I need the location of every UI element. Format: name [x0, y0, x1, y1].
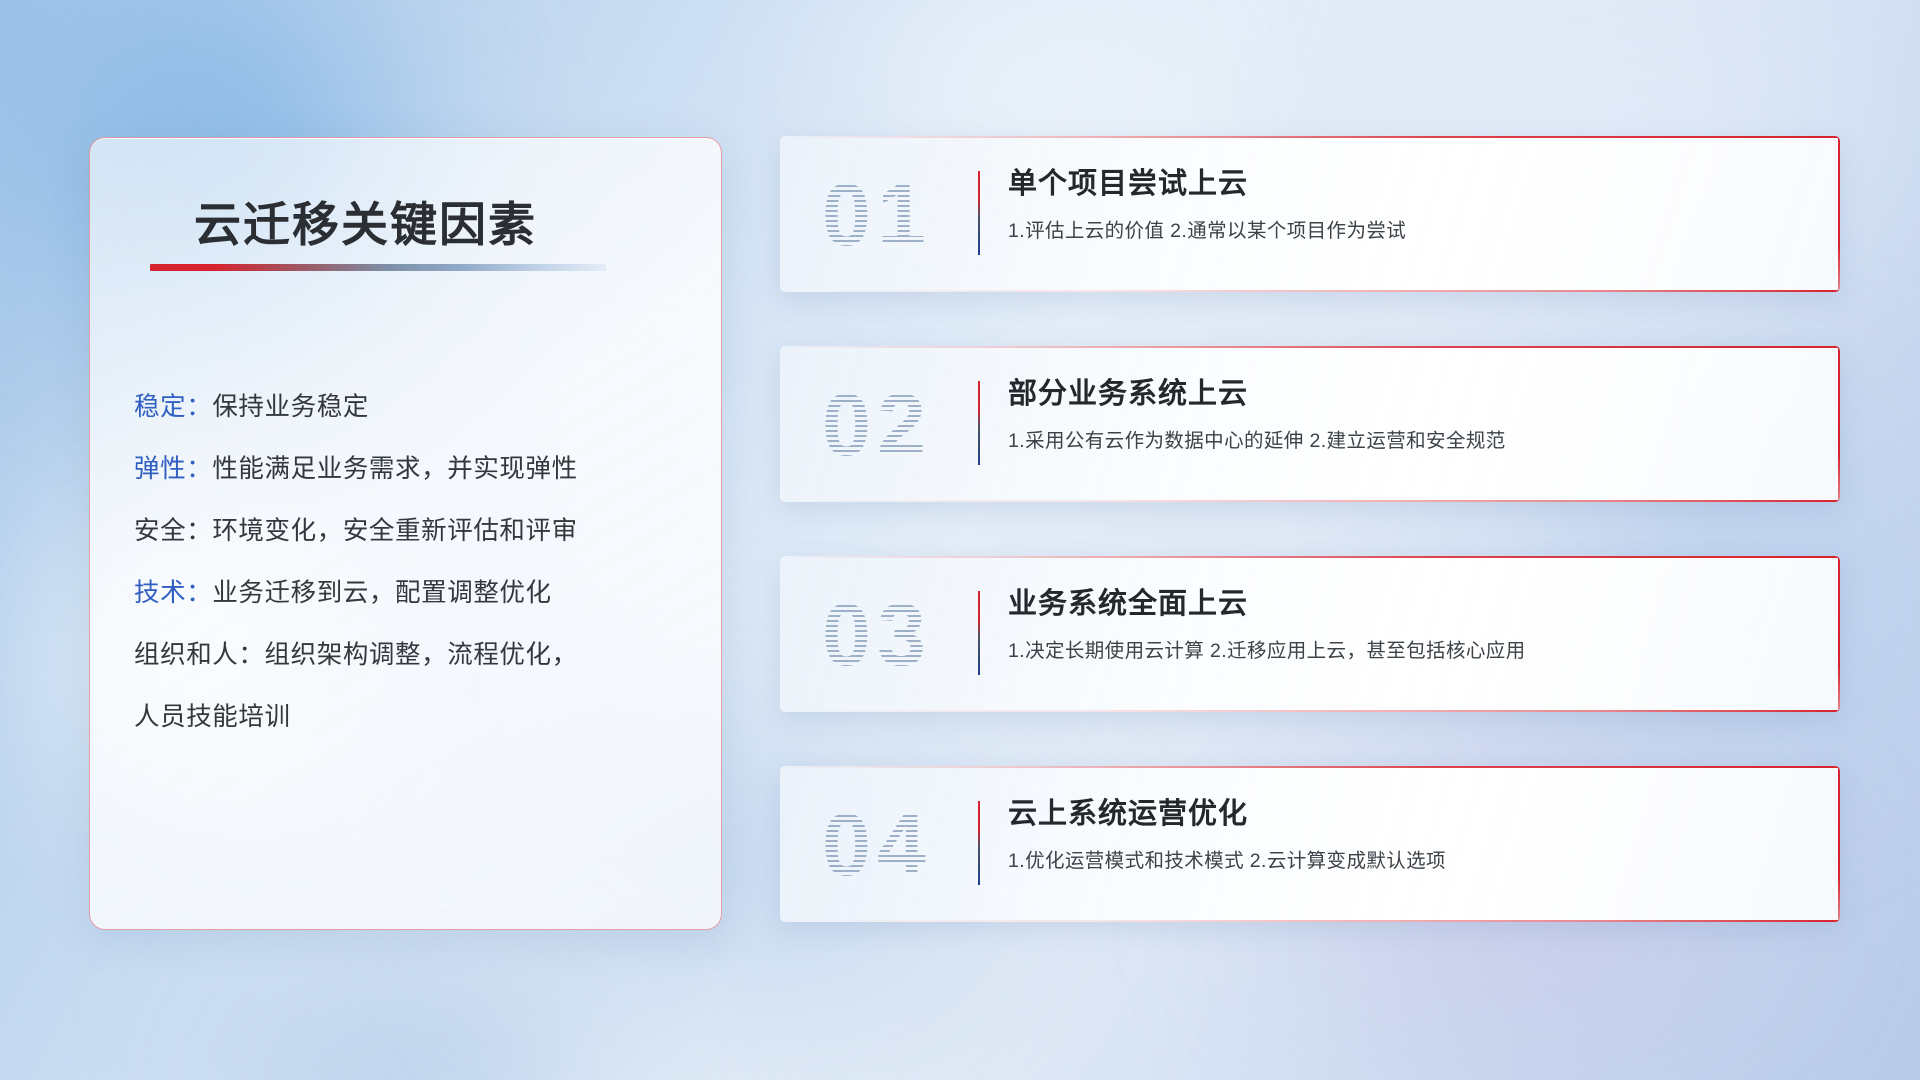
stage-divider-bar — [978, 591, 980, 675]
factor-value: 环境变化，安全重新评估和评审 — [212, 517, 577, 545]
factor-row: 安全：环境变化，安全重新评估和评审 — [134, 500, 691, 562]
factor-label: 技术： — [134, 579, 212, 607]
stage-description: 1.决定长期使用云计算 2.迁移应用上云，甚至包括核心应用 — [1008, 638, 1800, 664]
key-factors-panel: 云迁移关键因素 稳定：保持业务稳定弹性：性能满足业务需求，并实现弹性安全：环境变… — [89, 137, 722, 930]
stage-divider-bar — [978, 381, 980, 465]
stage-number: 02 — [822, 360, 932, 490]
card-bottom-accent — [780, 290, 1840, 292]
title-underline-accent — [150, 264, 606, 271]
factor-label: 稳定： — [134, 393, 212, 421]
stage-card[interactable]: 04云上系统运营优化1.优化运营模式和技术模式 2.云计算变成默认选项 — [780, 766, 1840, 922]
factor-row: 稳定：保持业务稳定 — [134, 376, 691, 438]
stage-body: 部分业务系统上云1.采用公有云作为数据中心的延伸 2.建立运营和安全规范 — [1008, 374, 1800, 454]
factor-row: 组织和人：组织架构调整，流程优化， — [134, 624, 691, 686]
stage-card[interactable]: 02部分业务系统上云1.采用公有云作为数据中心的延伸 2.建立运营和安全规范 — [780, 346, 1840, 502]
stage-number: 04 — [822, 780, 932, 910]
stage-title: 云上系统运营优化 — [1008, 794, 1800, 834]
stage-title: 单个项目尝试上云 — [1008, 164, 1800, 204]
stage-description: 1.评估上云的价值 2.通常以某个项目作为尝试 — [1008, 218, 1800, 244]
stage-body: 单个项目尝试上云1.评估上云的价值 2.通常以某个项目作为尝试 — [1008, 164, 1800, 244]
card-bottom-accent — [780, 920, 1840, 922]
stage-title: 业务系统全面上云 — [1008, 584, 1800, 624]
stage-body: 云上系统运营优化1.优化运营模式和技术模式 2.云计算变成默认选项 — [1008, 794, 1800, 874]
factor-value: 组织架构调整，流程优化， — [265, 641, 578, 669]
factor-label: 弹性： — [134, 455, 212, 483]
slide-stage: 云迁移关键因素 稳定：保持业务稳定弹性：性能满足业务需求，并实现弹性安全：环境变… — [0, 0, 1920, 1080]
stage-description: 1.优化运营模式和技术模式 2.云计算变成默认选项 — [1008, 848, 1800, 874]
factor-value: 性能满足业务需求，并实现弹性 — [212, 455, 577, 483]
stage-divider-bar — [978, 801, 980, 885]
stage-number: 01 — [822, 150, 932, 280]
stage-card[interactable]: 01单个项目尝试上云1.评估上云的价值 2.通常以某个项目作为尝试 — [780, 136, 1840, 292]
stage-number: 03 — [822, 570, 932, 700]
factor-row: 技术：业务迁移到云，配置调整优化 — [134, 562, 691, 624]
page-title: 云迁移关键因素 — [194, 186, 537, 255]
card-bottom-accent — [780, 500, 1840, 502]
stage-card[interactable]: 03业务系统全面上云1.决定长期使用云计算 2.迁移应用上云，甚至包括核心应用 — [780, 556, 1840, 712]
stage-body: 业务系统全面上云1.决定长期使用云计算 2.迁移应用上云，甚至包括核心应用 — [1008, 584, 1800, 664]
factor-row: 弹性：性能满足业务需求，并实现弹性 — [134, 438, 691, 500]
factor-value: 业务迁移到云，配置调整优化 — [212, 579, 551, 607]
migration-stage-list: 01单个项目尝试上云1.评估上云的价值 2.通常以某个项目作为尝试02部分业务系… — [780, 136, 1840, 976]
factor-value: 人员技能培训 — [134, 703, 291, 731]
factor-row: 人员技能培训 — [134, 686, 691, 748]
stage-title: 部分业务系统上云 — [1008, 374, 1800, 414]
factor-label: 组织和人： — [134, 641, 265, 669]
card-bottom-accent — [780, 710, 1840, 712]
stage-divider-bar — [978, 171, 980, 255]
factor-list: 稳定：保持业务稳定弹性：性能满足业务需求，并实现弹性安全：环境变化，安全重新评估… — [134, 376, 691, 748]
stage-description: 1.采用公有云作为数据中心的延伸 2.建立运营和安全规范 — [1008, 428, 1800, 454]
factor-value: 保持业务稳定 — [212, 393, 369, 421]
factor-label: 安全： — [134, 517, 212, 545]
